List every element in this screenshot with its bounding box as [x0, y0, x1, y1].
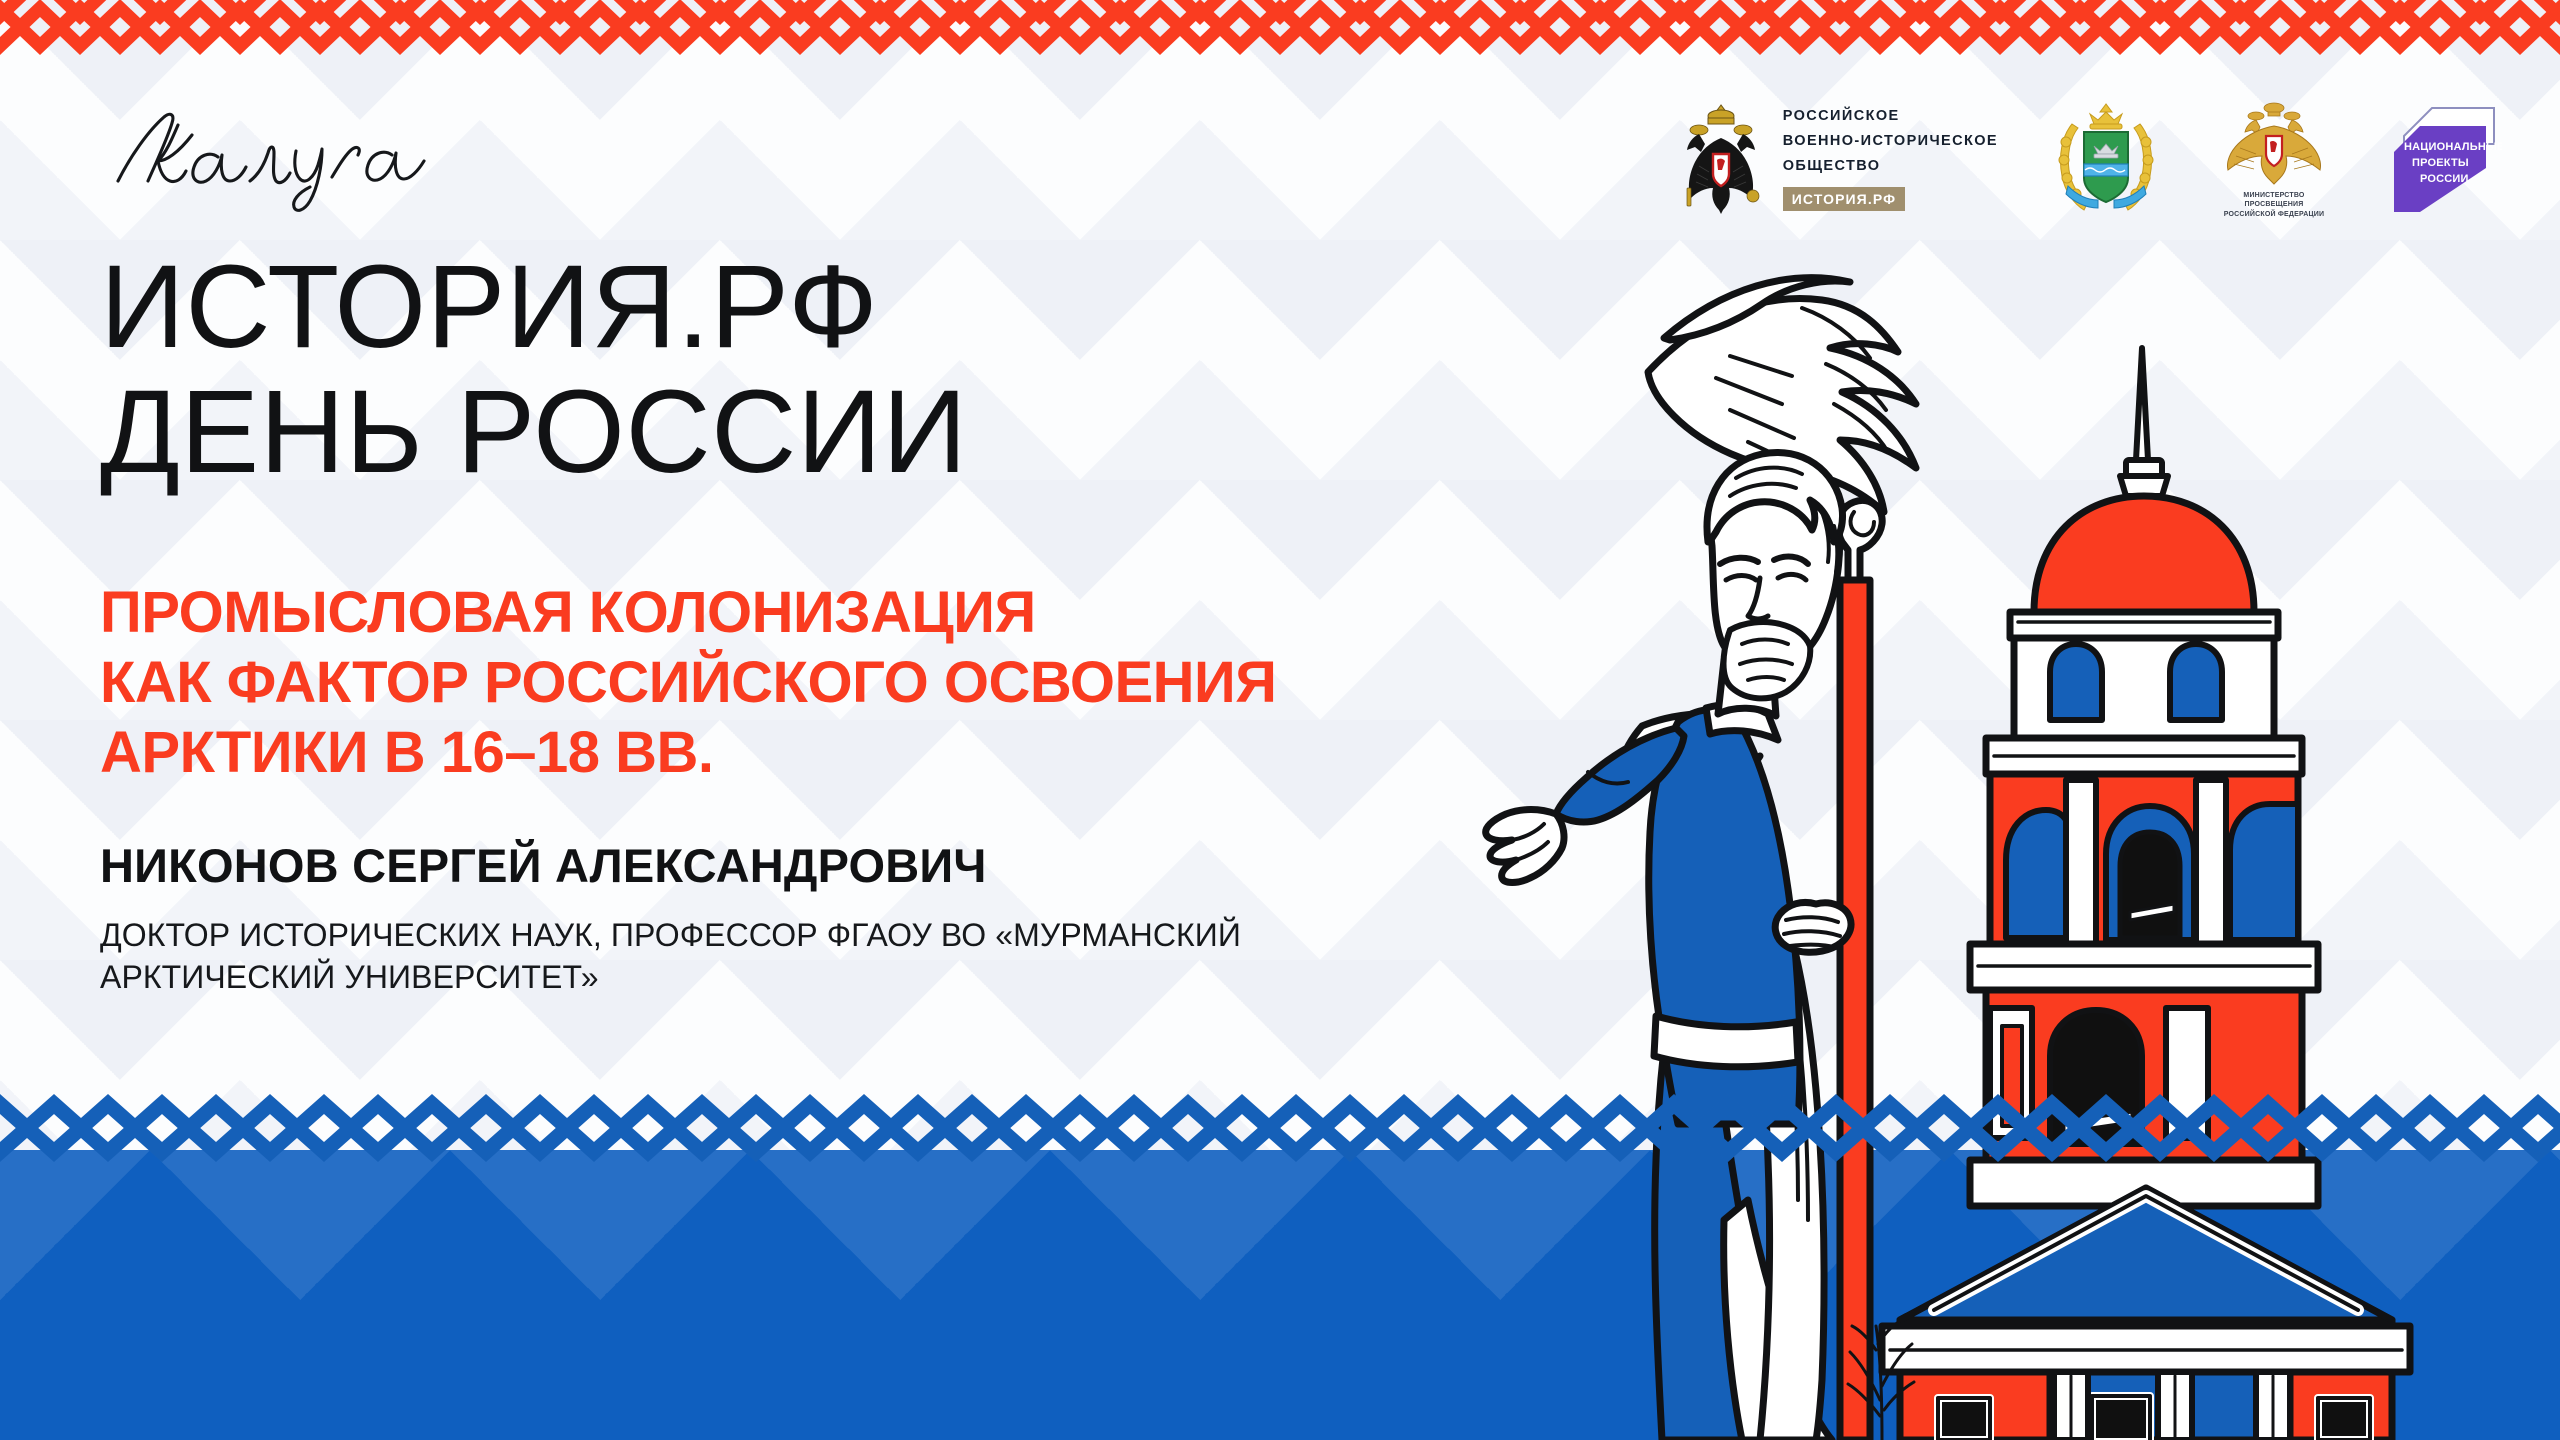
- top-red-ornament-border: [0, 0, 2560, 58]
- subtitle-line-1: ПРОМЫСЛОВАЯ КОЛОНИЗАЦИЯ: [100, 578, 1276, 648]
- ministry-caption: МИНИСТЕРСТВО ПРОСВЕЩЕНИЯ РОССИЙСКОЙ ФЕДЕ…: [2214, 191, 2334, 219]
- lecture-topic: ПРОМЫСЛОВАЯ КОЛОНИЗАЦИЯ КАК ФАКТОР РОССИ…: [100, 578, 1276, 789]
- speaker-name: НИКОНОВ СЕРГЕЙ АЛЕКСАНДРОВИЧ: [100, 838, 1241, 893]
- bell-tower: [1970, 348, 2318, 1206]
- logo-national-projects: НАЦИОНАЛЬНЫЕ ПРОЕКТЫ РОССИИ: [2390, 100, 2502, 220]
- np-line-2: ПРОЕКТЫ: [2412, 157, 2469, 169]
- page-title: ИСТОРИЯ.РФ ДЕНЬ РОССИИ: [100, 245, 968, 495]
- logo-kaluga: [2054, 100, 2158, 223]
- bottom-blue-ornament-border: [0, 1090, 2560, 1165]
- speaker-title-line-2: АРКТИЧЕСКИЙ УНИВЕРСИТЕТ»: [100, 957, 1241, 999]
- double-headed-eagle-gold-icon: [2220, 100, 2328, 186]
- poster-root: ИСТОРИЯ.РФ ДЕНЬ РОССИИ ПРОМЫСЛОВАЯ КОЛОН…: [0, 0, 2560, 1440]
- kaluga-handwriting-icon: [100, 95, 480, 215]
- partner-logo-strip: РОССИЙСКОЕ ВОЕННО-ИСТОРИЧЕСКОЕ ОБЩЕСТВО …: [1675, 100, 2502, 223]
- rvio-text-block: РОССИЙСКОЕ ВОЕННО-ИСТОРИЧЕСКОЕ ОБЩЕСТВО …: [1783, 108, 1998, 211]
- kaluga-script-wordmark: [100, 95, 480, 220]
- logo-rvio: РОССИЙСКОЕ ВОЕННО-ИСТОРИЧЕСКОЕ ОБЩЕСТВО …: [1675, 100, 1998, 218]
- logo-ministry: МИНИСТЕРСТВО ПРОСВЕЩЕНИЯ РОССИЙСКОЙ ФЕДЕ…: [2214, 100, 2334, 219]
- rvio-line-3: ОБЩЕСТВО: [1783, 158, 1998, 174]
- np-line-3: РОССИИ: [2420, 173, 2469, 185]
- np-line-1: НАЦИОНАЛЬНЫЕ: [2404, 141, 2502, 153]
- eagle-wing: [1648, 278, 1916, 512]
- rvio-istoriarf-badge: ИСТОРИЯ.РФ: [1783, 187, 1905, 211]
- blue-band-chevron-pattern: [0, 1150, 2560, 1440]
- headline-line-2: ДЕНЬ РОССИИ: [100, 370, 968, 495]
- national-projects-flag-icon: НАЦИОНАЛЬНЫЕ ПРОЕКТЫ РОССИИ: [2390, 100, 2502, 220]
- rvio-line-1: РОССИЙСКОЕ: [1783, 108, 1998, 124]
- kaluga-coat-of-arms-icon: [2054, 100, 2158, 218]
- speaker-title: ДОКТОР ИСТОРИЧЕСКИХ НАУК, ПРОФЕССОР ФГАО…: [100, 915, 1241, 998]
- ministry-caption-line-1: МИНИСТЕРСТВО ПРОСВЕЩЕНИЯ: [2243, 192, 2304, 208]
- rvio-line-2: ВОЕННО-ИСТОРИЧЕСКОЕ: [1783, 133, 1998, 149]
- subtitle-line-2: КАК ФАКТОР РОССИЙСКОГО ОСВОЕНИЯ: [100, 648, 1276, 718]
- speaker-block: НИКОНОВ СЕРГЕЙ АЛЕКСАНДРОВИЧ ДОКТОР ИСТО…: [100, 838, 1241, 998]
- headline-line-1: ИСТОРИЯ.РФ: [100, 245, 968, 370]
- speaker-title-line-1: ДОКТОР ИСТОРИЧЕСКИХ НАУК, ПРОФЕССОР ФГАО…: [100, 915, 1241, 957]
- double-headed-eagle-black-icon: [1675, 100, 1767, 218]
- subtitle-line-3: АРКТИКИ В 16–18 ВВ.: [100, 718, 1276, 788]
- ministry-caption-line-2: РОССИЙСКОЙ ФЕДЕРАЦИИ: [2224, 211, 2325, 218]
- bottom-blue-band: [0, 1150, 2560, 1440]
